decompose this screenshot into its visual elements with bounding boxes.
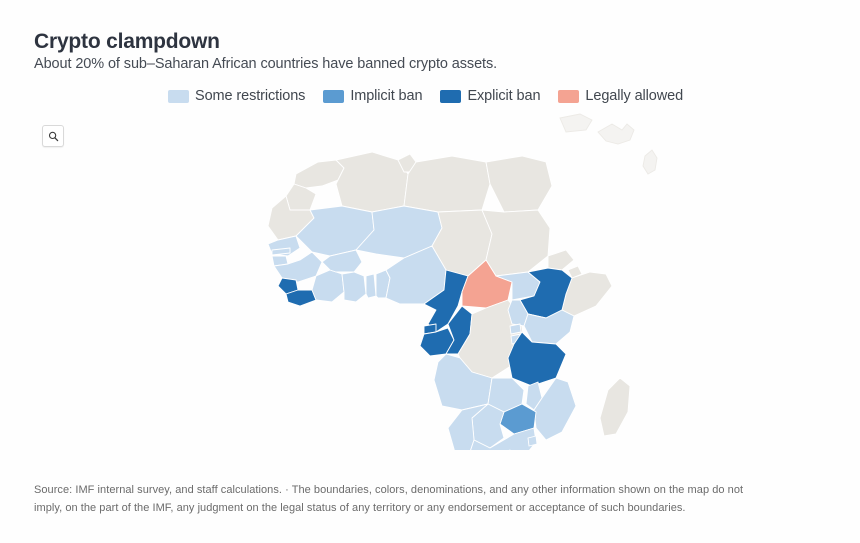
chart-footnote: Source: IMF internal survey, and staff c… xyxy=(34,481,834,517)
legend-label-explicit-ban: Explicit ban xyxy=(467,88,540,105)
map-country-algeria[interactable] xyxy=(336,152,408,212)
legend-label-implicit-ban: Implicit ban xyxy=(350,88,422,105)
legend-swatch-legally-allowed xyxy=(558,90,579,103)
map-country-eritrea[interactable] xyxy=(548,250,574,270)
footnote-line-2: imply, on the part of the IMF, any judgm… xyxy=(34,499,834,517)
legend-swatch-some-restrictions xyxy=(168,90,189,103)
infographic-root: Crypto clampdown About 20% of sub–Sahara… xyxy=(0,0,860,543)
map-country-eswatini[interactable] xyxy=(528,436,537,446)
map-country-western-sahara[interactable] xyxy=(286,184,316,210)
legend-label-legally-allowed: Legally allowed xyxy=(585,88,683,105)
africa-choropleth-map[interactable] xyxy=(0,110,860,450)
chart-header: Crypto clampdown About 20% of sub–Sahara… xyxy=(34,29,824,74)
page-title: Crypto clampdown xyxy=(34,29,824,54)
map-country-rwanda[interactable] xyxy=(510,324,521,334)
background-landmass xyxy=(560,114,657,174)
legend-item-implicit-ban[interactable]: Implicit ban xyxy=(323,88,422,105)
legend-label-some-restrictions: Some restrictions xyxy=(195,88,305,105)
footnote-line-1: Source: IMF internal survey, and staff c… xyxy=(34,481,834,499)
map-country-egypt[interactable] xyxy=(486,156,552,212)
map-country-libya[interactable] xyxy=(404,156,490,212)
legend-item-some-restrictions[interactable]: Some restrictions xyxy=(168,88,305,105)
map-country-sudan[interactable] xyxy=(482,210,550,276)
map-country-ghana[interactable] xyxy=(342,272,366,302)
map-country-togo[interactable] xyxy=(366,274,376,298)
map-legend: Some restrictions Implicit ban Explicit … xyxy=(168,88,683,105)
legend-swatch-implicit-ban xyxy=(323,90,344,103)
map-country-madagascar[interactable] xyxy=(600,378,630,436)
map-country-mozambique[interactable] xyxy=(534,378,576,440)
legend-item-legally-allowed[interactable]: Legally allowed xyxy=(558,88,683,105)
map-region-north-africa xyxy=(286,152,552,212)
legend-item-explicit-ban[interactable]: Explicit ban xyxy=(440,88,540,105)
legend-swatch-explicit-ban xyxy=(440,90,461,103)
map-country-liberia[interactable] xyxy=(286,290,316,306)
page-subtitle: About 20% of sub–Saharan African countri… xyxy=(34,55,824,74)
